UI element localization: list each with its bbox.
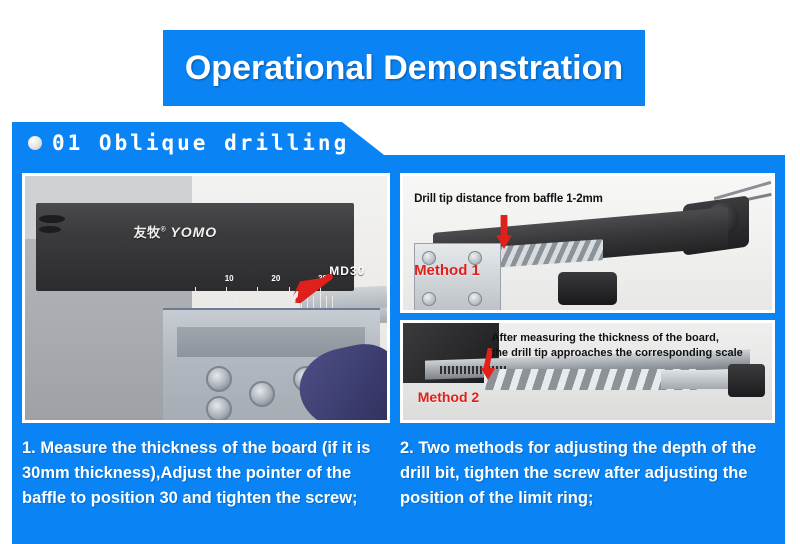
title-banner: Operational Demonstration <box>163 30 645 106</box>
caption-row: 1. Measure the thickness of the board (i… <box>12 436 785 544</box>
ruler-tick-10: 10 <box>225 274 234 283</box>
left-photo-column: 友牧® YOMO MD30 <box>22 173 390 423</box>
annotation-line-1: After measuring the thickness of the boa… <box>492 331 743 346</box>
registered-mark-icon: ® <box>161 227 167 234</box>
photo-annotation-text: Drill tip distance from baffle 1-2mm <box>414 193 603 205</box>
photo-method-1: Drill tip distance from baffle 1-2mm Met… <box>400 173 775 313</box>
right-photo-column: Drill tip distance from baffle 1-2mm Met… <box>400 173 775 423</box>
circle-bullet-icon <box>28 136 42 150</box>
limit-ring <box>558 272 617 304</box>
brand-logo: 友牧® YOMO <box>134 222 218 241</box>
drill-chuck <box>728 364 765 397</box>
photo-board-thickness-measurement: 友牧® YOMO MD30 <box>22 173 390 423</box>
red-arrow-icon <box>280 274 338 303</box>
bar-notch-lower-icon <box>39 226 61 233</box>
page-root: Operational Demonstration 01 Oblique dri… <box>0 0 800 544</box>
section-label: 01 Oblique drilling <box>52 131 349 155</box>
photo-grid: 友牧® YOMO MD30 <box>12 170 785 432</box>
method-2-label: Method 2 <box>418 389 479 405</box>
photo-method-2: After measuring the thickness of the boa… <box>400 320 775 423</box>
caption-step-2: 2. Two methods for adjusting the depth o… <box>400 436 780 511</box>
brand-logo-latin: YOMO <box>170 224 217 240</box>
photo-annotation-text: After measuring the thickness of the boa… <box>492 331 743 361</box>
method-1-label: Method 1 <box>414 262 480 279</box>
ruler-tick-20: 20 <box>271 274 280 283</box>
jig-bolt-3 <box>206 396 232 422</box>
section-heading: 01 Oblique drilling <box>12 126 349 160</box>
bar-notch-upper-icon <box>39 215 64 223</box>
annotation-line-2: the drill tip approaches the correspondi… <box>492 346 743 361</box>
page-title: Operational Demonstration <box>185 49 623 88</box>
red-down-arrow-icon <box>495 215 513 249</box>
brand-logo-cjk: 友牧 <box>134 225 161 240</box>
caption-step-1: 1. Measure the thickness of the board (i… <box>22 436 392 511</box>
